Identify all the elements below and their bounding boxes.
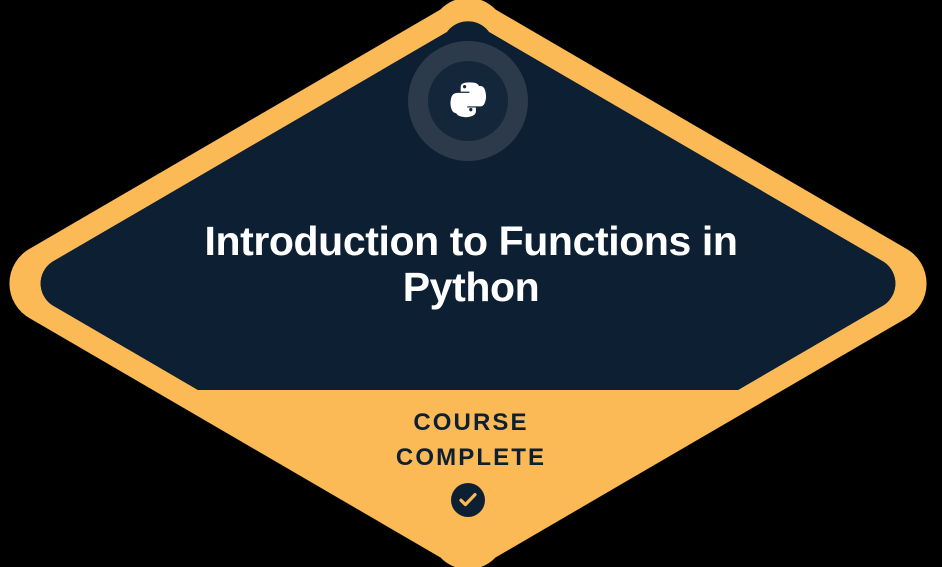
course-completion-badge: Introduction to Functions in Python COUR… (0, 0, 942, 567)
diamond-shape-svg (0, 0, 942, 567)
badge-diamond (0, 0, 942, 567)
